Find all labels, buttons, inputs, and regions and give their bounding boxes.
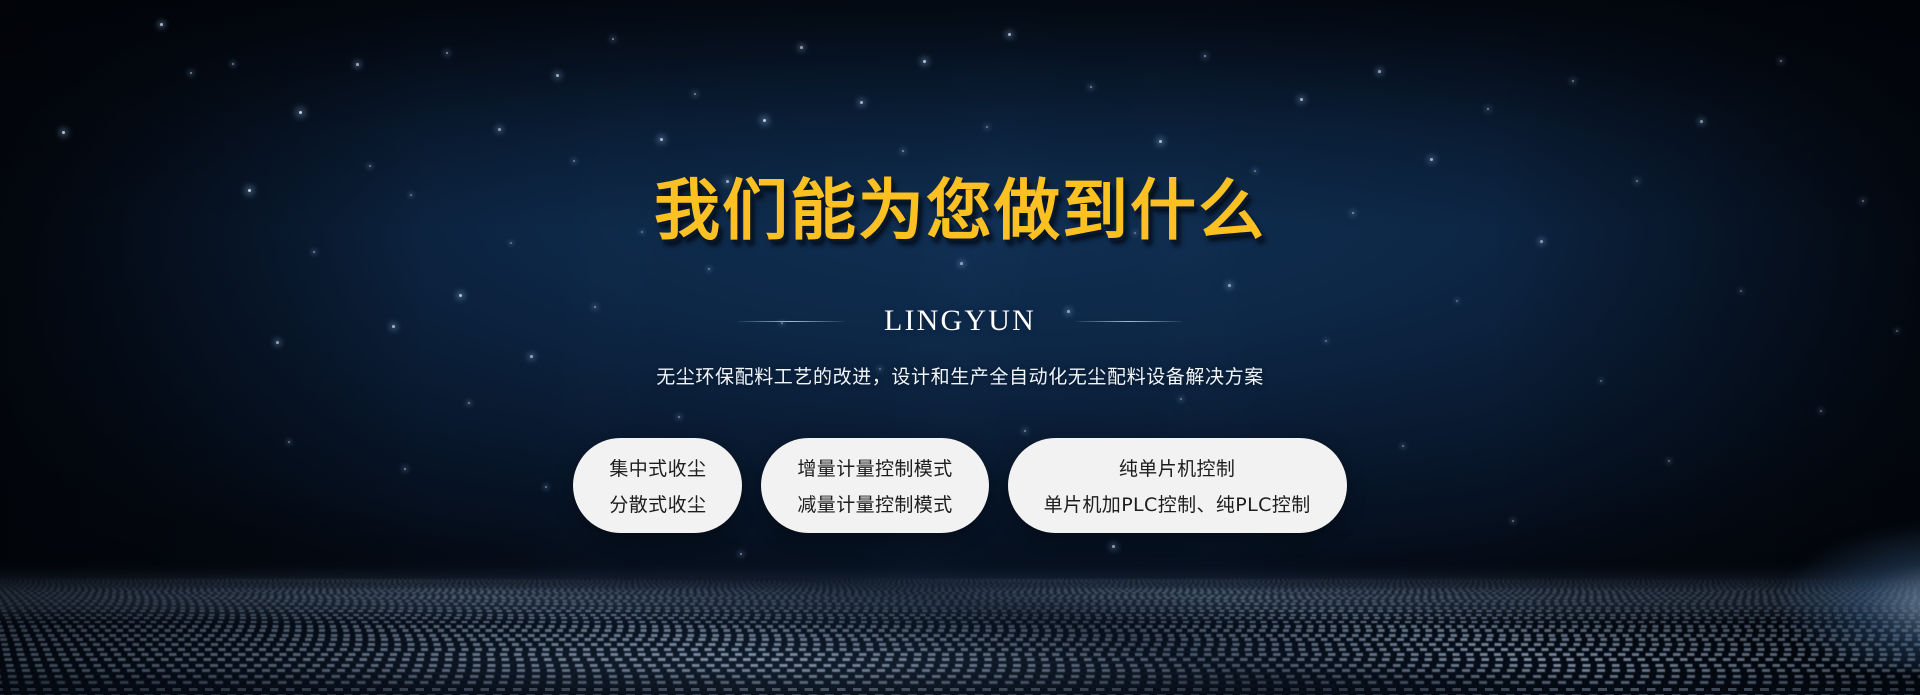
hero-banner: 我们能为您做到什么 LINGYUN 无尘环保配料工艺的改进，设计和生产全自动化无…	[0, 0, 1920, 695]
feature-card-line: 分散式收尘	[609, 490, 706, 517]
feature-card-line: 纯单片机控制	[1119, 454, 1235, 481]
feature-card-line: 减量计量控制模式	[797, 490, 952, 517]
page-subtitle: 无尘环保配料工艺的改进，设计和生产全自动化无尘配料设备解决方案	[656, 362, 1264, 389]
feature-card-line: 集中式收尘	[609, 454, 706, 481]
feature-card[interactable]: 集中式收尘分散式收尘	[573, 438, 742, 533]
feature-card[interactable]: 增量计量控制模式减量计量控制模式	[761, 438, 988, 533]
feature-card-line: 增量计量控制模式	[797, 454, 952, 481]
feature-card-list: 集中式收尘分散式收尘增量计量控制模式减量计量控制模式纯单片机控制单片机加PLC控…	[573, 438, 1346, 533]
feature-card[interactable]: 纯单片机控制单片机加PLC控制、纯PLC控制	[1008, 438, 1347, 533]
banner-content: 我们能为您做到什么 LINGYUN 无尘环保配料工艺的改进，设计和生产全自动化无…	[0, 0, 1920, 695]
brand-name: LINGYUN	[884, 304, 1036, 338]
divider-right	[1076, 321, 1182, 322]
brand-row: LINGYUN	[738, 304, 1182, 338]
feature-card-line: 单片机加PLC控制、纯PLC控制	[1044, 490, 1311, 517]
divider-left	[738, 321, 844, 322]
page-title: 我们能为您做到什么	[654, 178, 1266, 244]
